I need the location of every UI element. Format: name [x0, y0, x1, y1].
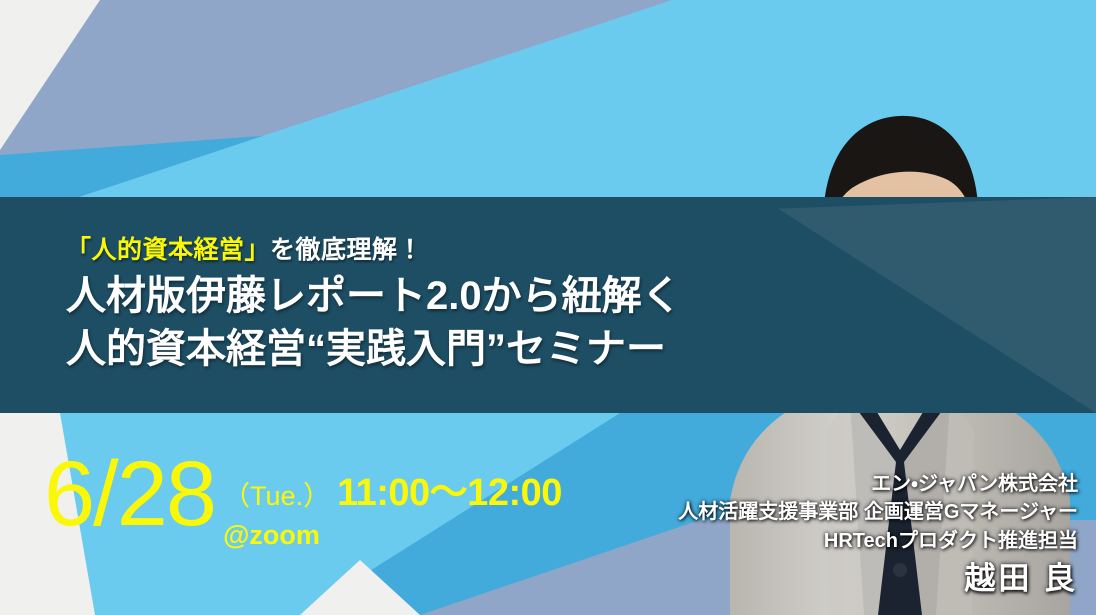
event-venue: @zoom [223, 522, 562, 549]
speaker-department: 人材活躍支援事業部 企画運営Gマネージャー [608, 498, 1078, 526]
schedule-details: （Tue.） 11:00〜12:00 @zoom [223, 452, 562, 549]
kicker-highlight: 「人的資本経営」 [66, 236, 270, 264]
speaker-name: 越田 良 [608, 559, 1078, 599]
speaker-company: エン・ジャパン株式会社 [608, 470, 1078, 498]
schedule-block: 6/28 （Tue.） 11:00〜12:00 @zoom [44, 452, 562, 549]
title-line-1: 人材版伊藤レポート2.0から紐解く [66, 270, 720, 323]
event-weekday: （Tue.） [223, 483, 330, 510]
speaker-role: HRTechプロダクト推進担当 [608, 527, 1078, 555]
title-line-2: 人的資本経営“実践入門”セミナー [66, 323, 720, 376]
event-time: 11:00〜12:00 [337, 474, 562, 512]
kicker-rest: を徹底理解！ [270, 236, 423, 264]
kicker-line: 「人的資本経営」を徹底理解！ [66, 235, 720, 266]
schedule-time-row: （Tue.） 11:00〜12:00 [223, 474, 562, 512]
event-date: 6/28 [44, 452, 215, 537]
headline-text-group: 「人的資本経営」を徹底理解！ 人材版伊藤レポート2.0から紐解く 人的資本経営“… [0, 197, 720, 413]
seminar-banner: 「人的資本経営」を徹底理解！ 人材版伊藤レポート2.0から紐解く 人的資本経営“… [0, 0, 1096, 615]
speaker-block: エン・ジャパン株式会社 人材活躍支援事業部 企画運営Gマネージャー HRTech… [608, 470, 1078, 599]
